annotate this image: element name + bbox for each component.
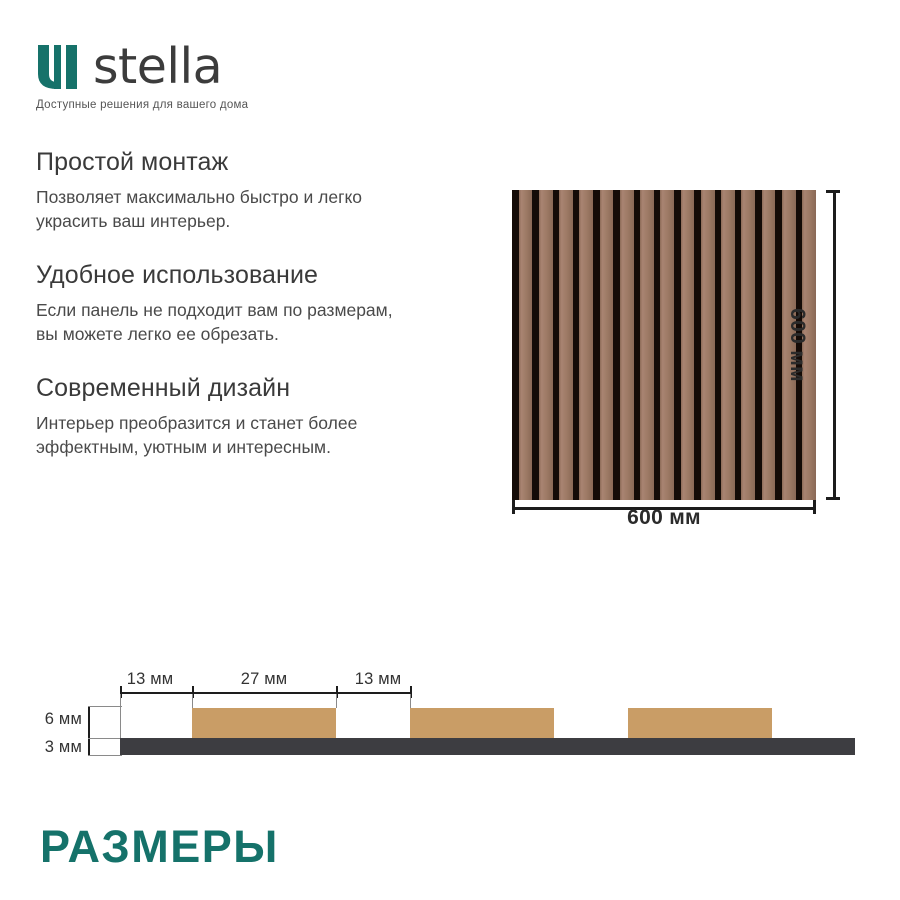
cs-extension-line-2	[336, 694, 337, 708]
cs-base-strip	[120, 738, 855, 755]
panel-slat	[640, 190, 654, 500]
dimension-tick-bottom	[826, 497, 840, 500]
brand-tagline: Доступные решения для вашего дома	[36, 99, 436, 111]
panel-gap	[654, 190, 661, 500]
cs-extension-line-0	[120, 694, 121, 742]
brand-logo: stella Доступные решения для вашего дома	[36, 40, 436, 111]
cs-side-tick-bottom	[88, 755, 122, 756]
panel-slat	[721, 190, 735, 500]
panel-height-label: 600 мм	[786, 190, 808, 500]
logo-row: stella	[36, 40, 436, 92]
panel-gap	[674, 190, 681, 500]
panel-gap	[755, 190, 762, 500]
panel-slat	[762, 190, 776, 500]
cross-section-diagram: 13 мм 27 мм 13 мм 6 мм 3 мм	[0, 660, 900, 770]
section-heading-dimensions: РАЗМЕРЫ	[40, 824, 279, 869]
panel-slat	[519, 190, 533, 500]
cs-extension-line-1	[192, 694, 193, 708]
feature-body: Если панель не подходит вам по размерам,…	[36, 298, 486, 346]
panel-gap	[593, 190, 600, 500]
panel-gap	[694, 190, 701, 500]
panel-gap	[512, 190, 519, 500]
panel-gap	[775, 190, 782, 500]
cs-top-dimension-rule	[120, 692, 412, 694]
brand-wordmark: stella	[93, 42, 222, 91]
feature-item: Современный дизайн Интерьер преобразится…	[36, 374, 486, 459]
cs-top-label-gap-2: 13 мм	[336, 670, 420, 689]
panel-slat	[600, 190, 614, 500]
feature-item: Простой монтаж Позволяет максимально быс…	[36, 148, 486, 233]
feature-title: Простой монтаж	[36, 148, 486, 177]
feature-title: Удобное использование	[36, 261, 486, 290]
feature-body: Позволяет максимально быстро и легко укр…	[36, 185, 486, 233]
panel-slat	[539, 190, 553, 500]
panel-slat	[701, 190, 715, 500]
slat-panel-image	[512, 190, 816, 500]
cs-slat-2	[410, 708, 554, 738]
cs-side-tick-top	[88, 706, 122, 707]
panel-height-dimension-line	[826, 190, 840, 500]
panel-gap	[735, 190, 742, 500]
panel-gap	[715, 190, 722, 500]
panel-gap	[532, 190, 539, 500]
panel-slat	[741, 190, 755, 500]
cs-side-tick-mid	[88, 738, 122, 739]
feature-body: Интерьер преобразится и станет более эфф…	[36, 411, 486, 459]
panel-gap	[573, 190, 580, 500]
feature-list: Простой монтаж Позволяет максимально быс…	[36, 148, 486, 459]
stella-logo-mark-icon	[36, 43, 82, 89]
panel-slat	[579, 190, 593, 500]
cs-side-label-slat-height: 6 мм	[10, 710, 82, 729]
panel-sample-figure	[512, 190, 816, 500]
cs-extension-line-3	[410, 694, 411, 708]
cs-slat-3	[628, 708, 772, 738]
feature-item: Удобное использование Если панель не под…	[36, 261, 486, 346]
panel-gap	[613, 190, 620, 500]
panel-slat	[559, 190, 573, 500]
dimension-rule	[833, 190, 836, 500]
product-info-page: stella Доступные решения для вашего дома…	[0, 0, 900, 900]
cs-side-label-base-height: 3 мм	[10, 738, 82, 757]
panel-slat	[660, 190, 674, 500]
panel-gap	[634, 190, 641, 500]
cs-slat-1	[192, 708, 336, 738]
cs-side-dimension-rule	[88, 706, 90, 756]
panel-gap	[553, 190, 560, 500]
panel-slat	[620, 190, 634, 500]
cs-top-label-slat: 27 мм	[192, 670, 336, 689]
feature-title: Современный дизайн	[36, 374, 486, 403]
panel-width-label: 600 мм	[512, 506, 816, 530]
panel-slat	[681, 190, 695, 500]
